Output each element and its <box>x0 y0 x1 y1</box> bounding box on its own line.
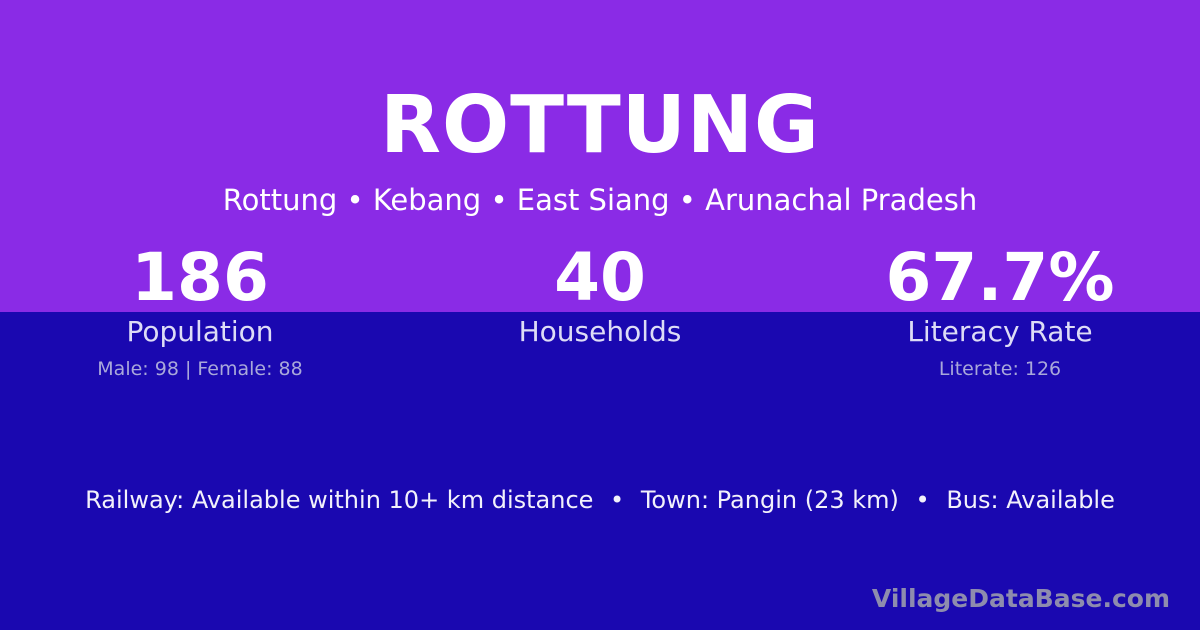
stat-population-breakdown: Male: 98 | Female: 88 <box>0 357 400 381</box>
stat-literacy-rate: 67.7% Literacy Rate Literate: 126 <box>800 243 1200 381</box>
facilities-summary: Railway: Available within 10+ km distanc… <box>0 484 1200 516</box>
facility-separator-icon: • <box>601 484 633 516</box>
stat-households-label: Households <box>400 315 800 349</box>
stat-households: 40 Households <box>400 243 800 381</box>
stat-population: 186 Population Male: 98 | Female: 88 <box>0 243 400 381</box>
facility-separator-icon: • <box>907 484 939 516</box>
stat-households-value: 40 <box>400 243 800 313</box>
stat-literacy-rate-label: Literacy Rate <box>800 315 1200 349</box>
stat-population-value: 186 <box>0 243 400 313</box>
stat-literacy-rate-value: 67.7% <box>800 243 1200 313</box>
stat-literacy-rate-breakdown: Literate: 126 <box>800 357 1200 381</box>
facility-nearest-town: Town: Pangin (23 km) <box>641 486 899 514</box>
stat-households-breakdown <box>400 357 800 381</box>
stat-population-label: Population <box>0 315 400 349</box>
page-title: ROTTUNG <box>0 80 1200 170</box>
site-watermark: VillageDataBase.com <box>872 584 1170 614</box>
facility-railway: Railway: Available within 10+ km distanc… <box>85 486 593 514</box>
stats-row: 186 Population Male: 98 | Female: 88 40 … <box>0 243 1200 381</box>
breadcrumb: Rottung • Kebang • East Siang • Arunacha… <box>0 182 1200 218</box>
facility-bus: Bus: Available <box>946 486 1115 514</box>
village-info-card: ROTTUNG Rottung • Kebang • East Siang • … <box>0 0 1200 630</box>
